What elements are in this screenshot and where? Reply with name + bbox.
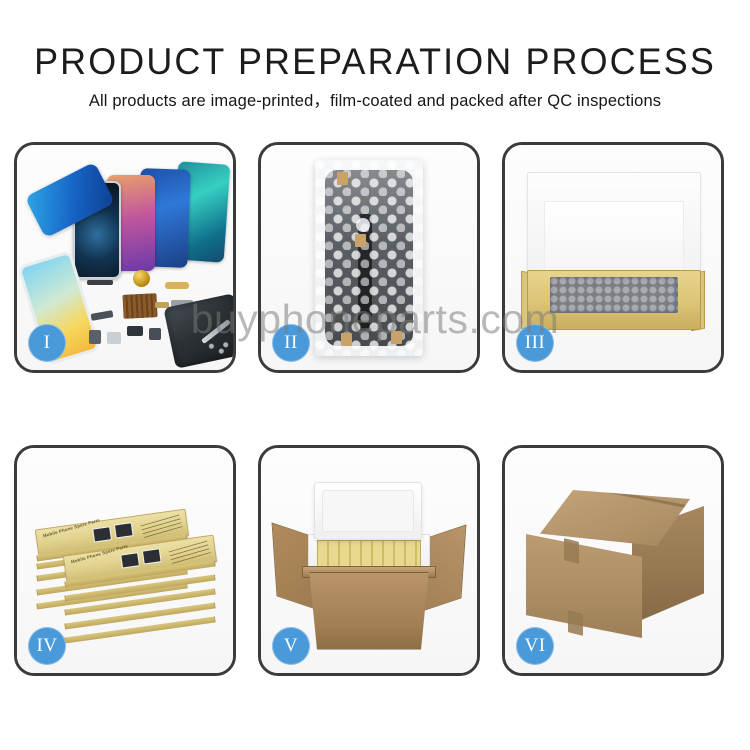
carton-body-icon — [304, 572, 434, 650]
box-screen-thumb-a-icon — [92, 526, 112, 542]
bubble-texture — [315, 160, 423, 356]
step-badge-6: VI — [516, 627, 554, 665]
step-panel-6[interactable]: VI — [502, 445, 724, 676]
step-badge-4: IV — [28, 627, 66, 665]
speaker-coil-icon — [133, 270, 150, 287]
process-step-grid: I II — [14, 142, 736, 676]
bubble-wrap-fill-icon — [550, 277, 678, 313]
step-badge-2: II — [272, 324, 310, 362]
step-badge-1: I — [28, 324, 66, 362]
step-panel-4[interactable]: Mobile Phone Spare Parts Mobile Phone Sp… — [14, 445, 236, 676]
step-panel-3[interactable]: III — [502, 142, 724, 373]
step-panel-1[interactable]: I — [14, 142, 236, 373]
part-bar-3-icon — [89, 330, 101, 344]
sealed-carton — [522, 490, 704, 640]
tape-piece-4-icon — [391, 331, 402, 344]
carton-tape-1-icon — [564, 538, 579, 564]
page-header: PRODUCT PREPARATION PROCESS All products… — [0, 0, 750, 112]
chip-grid-icon — [122, 293, 157, 319]
foam-lid-inner-icon — [322, 490, 414, 532]
tape-piece-2-icon — [355, 234, 366, 247]
part-bar-6-icon — [149, 328, 161, 340]
part-bar-4-icon — [107, 332, 121, 344]
carton-seam-icon — [581, 485, 699, 511]
box-lid-icon — [527, 172, 701, 282]
carton-tape-2-icon — [568, 610, 583, 636]
step-badge-3: III — [516, 324, 554, 362]
open-inner-box — [521, 164, 705, 352]
part-bar-5-icon — [127, 326, 143, 336]
carton-front-face-icon — [526, 534, 642, 638]
stacked-retail-boxes: Mobile Phone Spare Parts Mobile Phone Sp… — [30, 475, 220, 655]
tape-piece-1-icon — [337, 172, 348, 185]
box-base-icon — [527, 270, 701, 330]
box-screen-thumb-b-icon — [114, 522, 134, 538]
step-badge-5: V — [272, 627, 310, 665]
part-bar-1-icon — [87, 280, 113, 285]
bubble-wrap-bag — [315, 160, 423, 356]
part-bar-7-icon — [165, 282, 189, 289]
spare-parts-cluster — [87, 268, 236, 364]
foam-lid-icon — [314, 482, 422, 540]
box-screen-thumb-b-icon — [142, 548, 162, 564]
step-panel-5[interactable]: V — [258, 445, 480, 676]
page-title: PRODUCT PREPARATION PROCESS — [11, 0, 739, 82]
box-lid-inner-icon — [544, 201, 684, 277]
box-screen-thumb-a-icon — [120, 552, 140, 568]
screws-icon — [207, 342, 229, 356]
tape-piece-3-icon — [341, 333, 352, 346]
step-panel-2[interactable]: II — [258, 142, 480, 373]
page-subtitle: All products are image-printed，film-coat… — [0, 82, 750, 112]
part-bar-2-icon — [91, 310, 114, 321]
